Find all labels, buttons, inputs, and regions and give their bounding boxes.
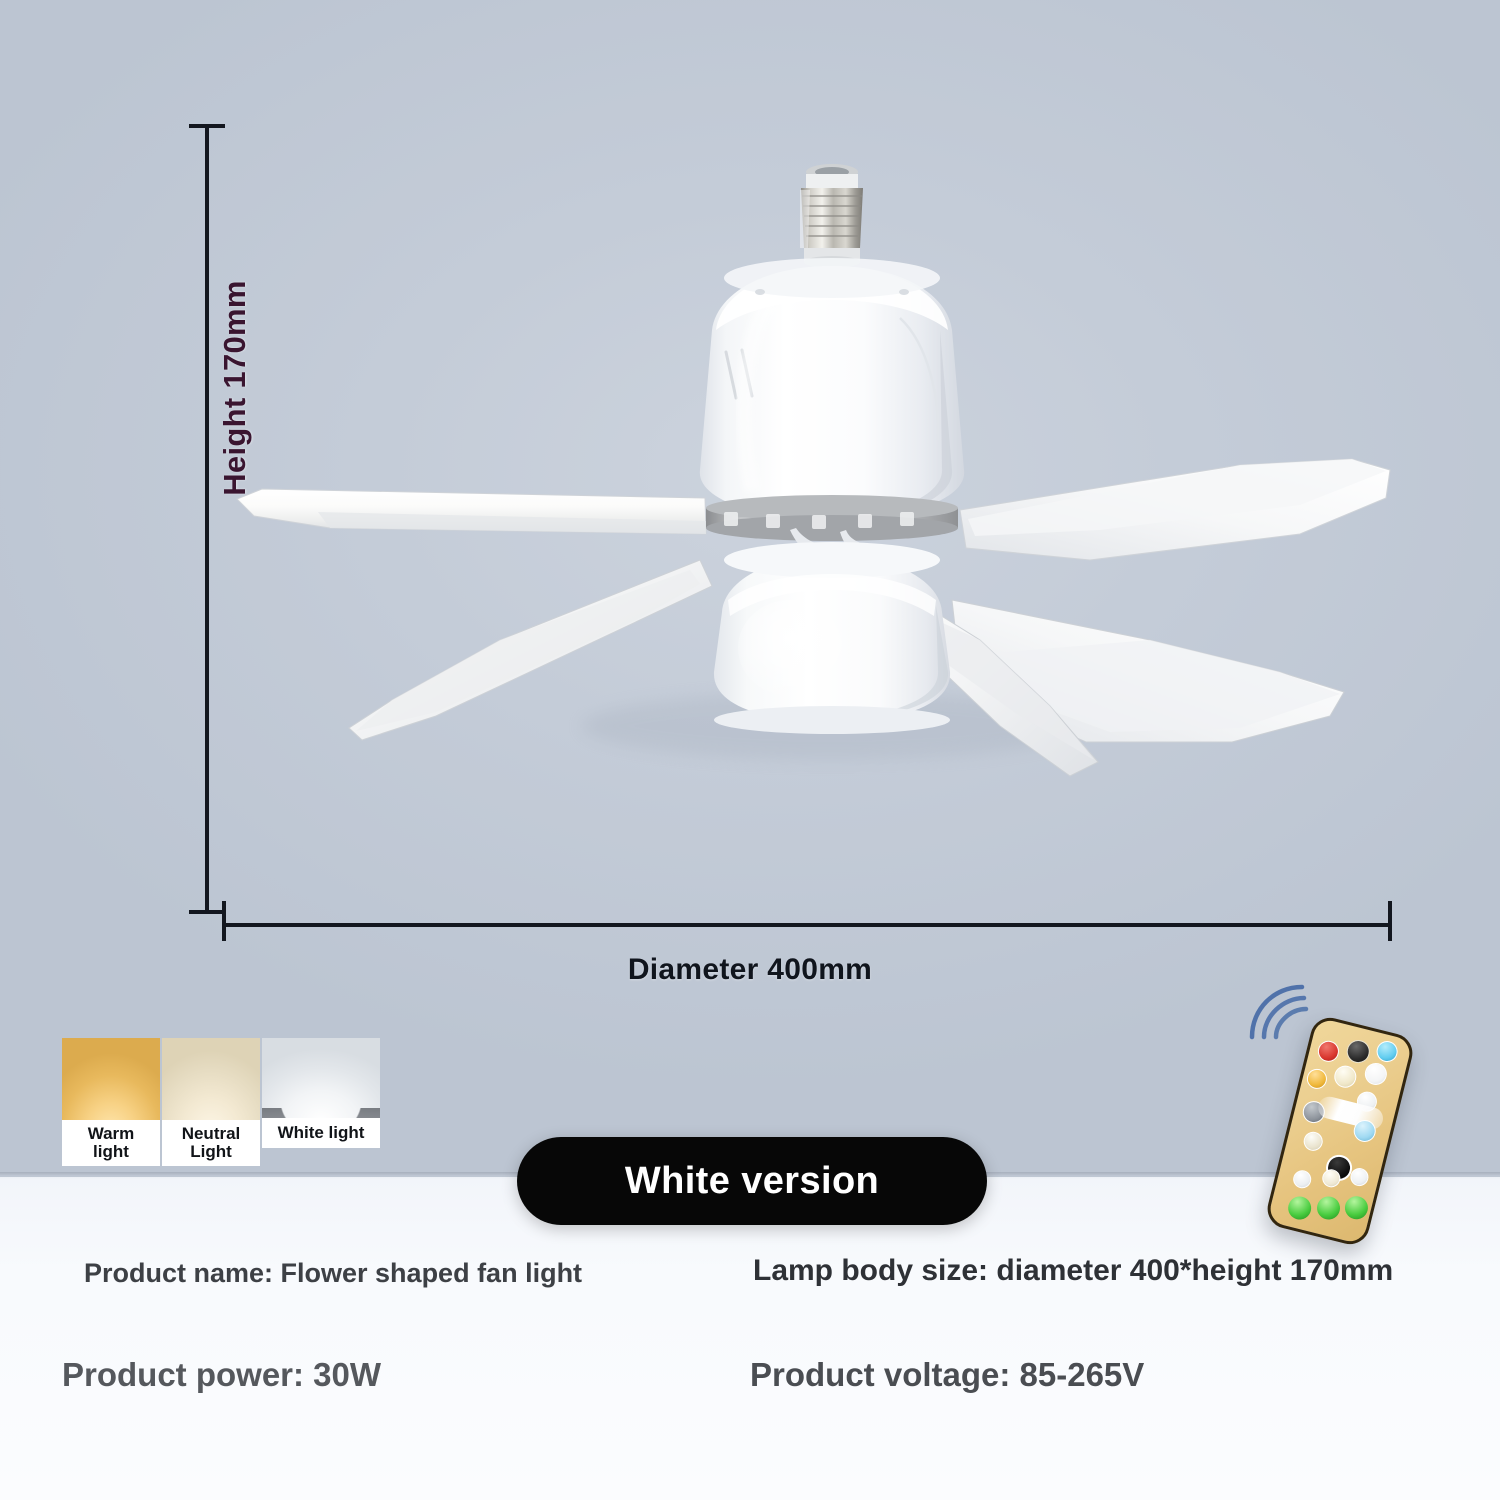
warm-light-caption: Warmlight [62, 1120, 160, 1166]
e27-socket [800, 164, 863, 268]
version-badge: White version [517, 1137, 987, 1225]
neutral-light-caption: NeutralLight [162, 1120, 260, 1166]
spec-product-name: Product name: Flower shaped fan light [84, 1258, 582, 1289]
neutral-light-label-line1: Neutral [182, 1124, 241, 1143]
height-dimension-cap-bottom [189, 910, 225, 914]
speed-1-button[interactable] [1286, 1194, 1314, 1222]
power-button[interactable] [1316, 1039, 1341, 1064]
remote-control [1248, 975, 1458, 1275]
warm-light-label-line2: light [93, 1142, 129, 1161]
mode-button[interactable] [1344, 1038, 1372, 1066]
product-infographic: Height 170mm Diameter 400mm Warmlight Ne… [0, 0, 1500, 1500]
color-temperature-swatches: Warmlight NeutralLight White light [62, 1038, 380, 1166]
diameter-dimension-cap-right [1388, 901, 1392, 941]
white-light-caption: White light [262, 1118, 380, 1148]
diameter-dimension-line [222, 923, 1392, 927]
speed-2-button[interactable] [1315, 1194, 1343, 1222]
swatch-neutral-light: NeutralLight [162, 1038, 260, 1166]
remote-body [1263, 1014, 1416, 1249]
warm-light-label-line1: Warm [88, 1124, 135, 1143]
height-dimension-line [205, 124, 209, 914]
neutral-light-button[interactable] [1332, 1063, 1359, 1090]
timer-button[interactable] [1374, 1039, 1399, 1064]
neutral-light-label-line2: Light [190, 1142, 232, 1161]
spec-product-voltage: Product voltage: 85-265V [750, 1356, 1144, 1394]
swatch-warm-light: Warmlight [62, 1038, 160, 1166]
version-badge-label: White version [625, 1160, 879, 1203]
spec-product-power: Product power: 30W [62, 1356, 381, 1394]
height-dimension-cap-top [189, 124, 225, 128]
brightness-up-button[interactable] [1363, 1061, 1390, 1088]
color-cycle-button[interactable] [1302, 1130, 1325, 1153]
fan-timer-button[interactable] [1291, 1168, 1313, 1190]
height-label: Height 170mm [217, 258, 253, 518]
diameter-dimension-cap-left [222, 901, 226, 941]
warm-light-button[interactable] [1305, 1067, 1329, 1091]
swatch-white-light: White light [262, 1038, 380, 1148]
speed-3-button[interactable] [1342, 1194, 1370, 1222]
spec-lamp-body-size: Lamp body size: diameter 400*height 170m… [753, 1254, 1393, 1288]
light-diffuser [714, 542, 950, 734]
lamp-body [700, 258, 964, 520]
